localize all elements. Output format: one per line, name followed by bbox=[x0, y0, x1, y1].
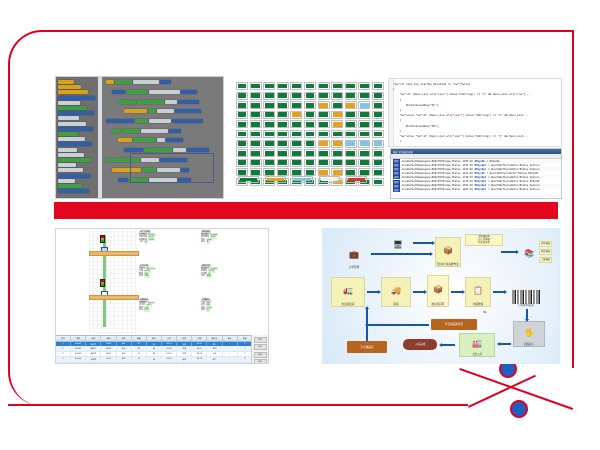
table-cell: 60 bbox=[132, 352, 147, 356]
status-cell-fill bbox=[265, 93, 274, 98]
palette-block[interactable] bbox=[58, 179, 75, 183]
status-grid[interactable] bbox=[236, 82, 384, 186]
tags-top: 到货通知单出入库单据作业任务单 bbox=[465, 234, 503, 246]
canvas-block[interactable] bbox=[124, 109, 201, 113]
status-cell[interactable] bbox=[318, 140, 330, 148]
table-cell: 15x25 bbox=[101, 352, 116, 356]
status-cell[interactable] bbox=[318, 82, 330, 90]
status-cell-fill bbox=[333, 84, 342, 89]
arrow-scan-to-putaway bbox=[499, 343, 511, 345]
status-cell[interactable] bbox=[345, 149, 357, 157]
status-cell[interactable] bbox=[358, 101, 370, 109]
log-status: RCSysOk bbox=[475, 160, 485, 163]
blocks-canvas[interactable] bbox=[102, 77, 223, 198]
status-cell[interactable] bbox=[277, 130, 289, 138]
status-cell-fill bbox=[265, 84, 274, 89]
status-cell[interactable] bbox=[304, 149, 316, 157]
arrow-receive-to-inspect bbox=[451, 291, 463, 293]
node-reject-store: 不合格品库 bbox=[347, 341, 387, 353]
status-cell-fill bbox=[251, 93, 260, 98]
table-header-cell[interactable]: 编号 bbox=[71, 336, 86, 341]
status-cell[interactable] bbox=[263, 92, 275, 100]
sheet-side-button[interactable]: 查询 bbox=[254, 359, 267, 364]
status-cell[interactable] bbox=[290, 159, 302, 167]
table-header-cell[interactable]: 单位 bbox=[147, 336, 162, 341]
status-cell[interactable] bbox=[290, 130, 302, 138]
palette-block[interactable] bbox=[58, 106, 87, 110]
red-divider-band bbox=[54, 202, 558, 219]
palette-block[interactable] bbox=[58, 148, 77, 152]
status-cell[interactable] bbox=[372, 92, 384, 100]
status-cell[interactable] bbox=[290, 92, 302, 100]
status-cell[interactable] bbox=[304, 111, 316, 119]
status-cell[interactable] bbox=[236, 159, 248, 167]
sheet-data-group: 生产计划表计划编号 P-1001开始日期 08-12完成数量 1,250工序 O… bbox=[139, 231, 156, 244]
table-cell: A-1003 bbox=[71, 352, 86, 356]
status-cell[interactable] bbox=[236, 120, 248, 128]
status-cell[interactable] bbox=[277, 149, 289, 157]
status-cell-fill bbox=[265, 103, 274, 108]
status-cell[interactable] bbox=[331, 149, 343, 157]
palette-block[interactable] bbox=[58, 158, 91, 162]
table-header-cell[interactable]: 操作员 bbox=[207, 336, 222, 341]
status-cell[interactable] bbox=[331, 120, 343, 128]
server-icon: 🖥 bbox=[385, 233, 411, 255]
status-cell[interactable] bbox=[358, 120, 370, 128]
status-cell-fill bbox=[278, 160, 287, 165]
status-cell[interactable] bbox=[304, 140, 316, 148]
status-cell[interactable] bbox=[318, 149, 330, 157]
legend-swatch-fill: 保留 bbox=[294, 178, 312, 182]
status-cell[interactable] bbox=[277, 120, 289, 128]
status-cell[interactable] bbox=[372, 120, 384, 128]
status-cell[interactable] bbox=[304, 82, 316, 90]
block-segment bbox=[118, 100, 136, 104]
log-row[interactable]: 线程CoreDefaultNamespace\RCSoftPCFrame_Sta… bbox=[391, 167, 561, 171]
sheet-data-groups: 生产计划表计划编号 P-1001开始日期 08-12完成数量 1,250工序 O… bbox=[139, 229, 268, 333]
status-cell-fill bbox=[346, 141, 355, 146]
canvas-block[interactable] bbox=[112, 90, 197, 94]
canvas-block[interactable] bbox=[124, 148, 209, 152]
block-segment bbox=[106, 80, 114, 84]
status-cell[interactable] bbox=[318, 159, 330, 167]
status-cell[interactable] bbox=[236, 149, 248, 157]
status-cell[interactable] bbox=[372, 111, 384, 119]
block-segment bbox=[172, 119, 203, 123]
table-header-cell[interactable]: 数量 bbox=[132, 336, 147, 341]
status-cell-fill bbox=[238, 103, 247, 108]
block-segment bbox=[124, 148, 143, 152]
status-cell[interactable] bbox=[263, 159, 275, 167]
status-cell-fill bbox=[278, 170, 287, 175]
palette-block[interactable] bbox=[58, 96, 95, 100]
status-cell-fill bbox=[238, 93, 247, 98]
status-cell[interactable] bbox=[263, 111, 275, 119]
palette-block[interactable] bbox=[58, 132, 78, 136]
table-header-cell[interactable]: 仓位 bbox=[162, 336, 177, 341]
decorative-frame-right bbox=[572, 30, 574, 368]
status-cell[interactable] bbox=[345, 159, 357, 167]
log-result: = OpenToRefCycleRefer/Status Failure bbox=[488, 164, 540, 167]
status-cell[interactable] bbox=[290, 140, 302, 148]
status-cell[interactable] bbox=[263, 101, 275, 109]
sheet-side-button[interactable]: 新增 bbox=[254, 337, 267, 343]
status-cell[interactable] bbox=[358, 82, 370, 90]
log-status: RCSysOpt bbox=[475, 184, 486, 187]
table-cell: 4 bbox=[56, 357, 71, 361]
status-cell[interactable] bbox=[236, 82, 248, 90]
log-row[interactable]: 线程CoreDefaultNamespace\RCSoftPCFrame_Sta… bbox=[391, 175, 561, 179]
status-cell-fill bbox=[319, 132, 328, 137]
palette-block[interactable] bbox=[58, 184, 82, 188]
status-cell-fill bbox=[346, 93, 355, 98]
status-cell-fill bbox=[374, 180, 383, 185]
log-code: 2874:08 bbox=[463, 168, 473, 171]
palette-block[interactable] bbox=[58, 80, 74, 84]
status-cell[interactable] bbox=[250, 120, 262, 128]
status-cell[interactable] bbox=[290, 120, 302, 128]
status-cell-fill bbox=[319, 141, 328, 146]
status-cell[interactable] bbox=[345, 82, 357, 90]
group-key: 周转 bbox=[201, 309, 205, 311]
carton-icon: 📦 bbox=[428, 276, 448, 303]
table-cell: 08-13 bbox=[192, 357, 207, 361]
palette-block[interactable] bbox=[58, 163, 76, 167]
table-cell: 32 bbox=[132, 357, 147, 361]
log-row[interactable]: 线程CoreDefaultNamespace\RCSoftPCFrame_Sta… bbox=[391, 163, 561, 167]
status-cell[interactable] bbox=[345, 92, 357, 100]
status-cell-fill bbox=[319, 151, 328, 156]
block-segment bbox=[144, 148, 172, 152]
status-cell[interactable] bbox=[236, 92, 248, 100]
status-cell-fill bbox=[238, 160, 247, 165]
status-cell-fill bbox=[238, 170, 247, 175]
canvas-block[interactable] bbox=[106, 119, 203, 123]
code-editor-panel[interactable]: "kw">if (Get_key_startUp_Disabled == "kw… bbox=[388, 78, 562, 147]
status-cell[interactable] bbox=[372, 178, 384, 186]
arrow-barcode-to-scan bbox=[526, 309, 528, 319]
status-cell[interactable] bbox=[250, 130, 262, 138]
status-cell[interactable] bbox=[318, 92, 330, 100]
log-result: = RCSysOk bbox=[487, 160, 500, 163]
table-header-cell[interactable]: 备注 bbox=[223, 336, 238, 341]
status-cell[interactable] bbox=[318, 101, 330, 109]
table-header-cell[interactable]: 状态 bbox=[177, 336, 192, 341]
canvas-block[interactable] bbox=[118, 100, 199, 104]
status-cell[interactable] bbox=[358, 149, 370, 157]
status-cell[interactable] bbox=[331, 111, 343, 119]
planning-sheet-panel: 生产计划表计划编号 P-1001开始日期 08-12完成数量 1,250工序 O… bbox=[55, 228, 269, 364]
status-cell[interactable] bbox=[345, 130, 357, 138]
barcode-icon bbox=[512, 290, 540, 304]
workflow-tag: 库存报表 bbox=[539, 241, 552, 247]
status-cell-fill bbox=[278, 151, 287, 156]
log-path: CoreDefaultNamespace\RCSoftPCFrame_Statu… bbox=[402, 176, 461, 179]
status-cell-fill bbox=[251, 151, 260, 156]
status-cell[interactable] bbox=[277, 82, 289, 90]
status-cell[interactable] bbox=[236, 111, 248, 119]
status-cell-fill bbox=[306, 84, 315, 89]
log-row-list[interactable]: 线程CoreDefaultNamespace\RCSoftPCFrame_Sta… bbox=[391, 159, 561, 192]
status-cell-fill bbox=[333, 103, 342, 108]
status-cell[interactable] bbox=[263, 120, 275, 128]
status-cell[interactable] bbox=[304, 92, 316, 100]
status-cell[interactable] bbox=[290, 149, 302, 157]
log-code: 2761:19 bbox=[463, 164, 473, 167]
log-status: RCSysOpt bbox=[475, 176, 486, 179]
canvas-block[interactable] bbox=[106, 80, 171, 84]
status-cell[interactable] bbox=[372, 140, 384, 148]
status-cell[interactable] bbox=[372, 159, 384, 167]
palette-block[interactable] bbox=[58, 142, 92, 146]
log-status: RCSysOpt bbox=[475, 168, 486, 171]
status-cell[interactable] bbox=[250, 92, 262, 100]
status-cell[interactable] bbox=[304, 120, 316, 128]
status-cell-fill bbox=[374, 122, 383, 127]
status-cell-fill bbox=[319, 170, 328, 175]
status-cell-fill bbox=[278, 103, 287, 108]
status-cell[interactable] bbox=[372, 149, 384, 157]
table-cell: 48 bbox=[132, 346, 147, 350]
log-result: = OpenToRefCycleRefer/Status Failure bbox=[488, 176, 540, 179]
status-cell[interactable] bbox=[290, 101, 302, 109]
status-cell[interactable] bbox=[345, 101, 357, 109]
block-segment bbox=[112, 90, 125, 94]
log-row[interactable]: 线程CoreDefaultNamespace\RCSoftPCFrame_Sta… bbox=[391, 171, 561, 175]
status-cell-fill bbox=[238, 122, 247, 127]
log-path: CoreDefaultNamespace\RCSoftPCFrame_Statu… bbox=[402, 180, 461, 183]
palette-block[interactable] bbox=[58, 168, 83, 172]
slide-canvas: 可用使用中保留空闲故障 "kw">if (Get_key_startUp_Dis… bbox=[0, 0, 600, 450]
status-cell[interactable] bbox=[372, 101, 384, 109]
table-cell: 08-12 bbox=[192, 346, 207, 350]
status-cell[interactable] bbox=[331, 82, 343, 90]
log-path: CoreDefaultNamespace\RCSoftPCFrame_Statu… bbox=[402, 172, 461, 175]
status-cell[interactable] bbox=[358, 111, 370, 119]
status-cell[interactable] bbox=[372, 130, 384, 138]
workflow-diagram-panel: 💼 订单管理 🖥 📦 警示/记录系统作业 到货通知单出入库单据作业任务单 📚 库… bbox=[322, 228, 560, 364]
forklift-icon: 🚚 bbox=[382, 278, 410, 303]
status-cell[interactable] bbox=[250, 101, 262, 109]
block-segment bbox=[122, 129, 140, 133]
sheet-data-group: 设备状态设备编号 EQ-15运行率 94%停机 0.5h状态 运行 bbox=[139, 299, 155, 312]
palette-block[interactable] bbox=[58, 101, 80, 105]
status-cell-fill bbox=[306, 103, 315, 108]
canvas-block[interactable] bbox=[118, 138, 183, 142]
status-cell[interactable] bbox=[250, 159, 262, 167]
status-cell[interactable] bbox=[358, 92, 370, 100]
table-cell: 赵六 bbox=[207, 357, 222, 361]
table-header-cell[interactable]: 日期 bbox=[192, 336, 207, 341]
status-cell[interactable] bbox=[345, 120, 357, 128]
sheet-side-buttons[interactable]: 新增修改删除查询导出刷新关闭 bbox=[251, 335, 268, 363]
gantt-signal-a bbox=[100, 235, 105, 243]
status-cell-fill bbox=[346, 160, 355, 165]
status-cell[interactable] bbox=[277, 101, 289, 109]
legend-swatch-fill: 可用 bbox=[240, 178, 258, 182]
blocks-palette[interactable] bbox=[56, 77, 98, 198]
table-cell: B02 bbox=[117, 346, 132, 350]
palette-block[interactable] bbox=[58, 137, 85, 141]
status-cell-fill bbox=[278, 112, 287, 117]
status-cell-fill bbox=[360, 170, 369, 175]
status-cell-fill bbox=[333, 160, 342, 165]
status-cell-fill bbox=[360, 141, 369, 146]
status-cell[interactable] bbox=[331, 92, 343, 100]
table-cell: B03 bbox=[117, 352, 132, 356]
block-segment bbox=[112, 129, 121, 133]
status-cell[interactable] bbox=[263, 82, 275, 90]
status-cell[interactable] bbox=[263, 130, 275, 138]
status-cell[interactable] bbox=[263, 149, 275, 157]
block-segment bbox=[166, 138, 183, 142]
status-cell[interactable] bbox=[250, 149, 262, 157]
legend-swatch-fill: 故障 bbox=[348, 178, 366, 182]
status-cell-fill bbox=[374, 160, 383, 165]
block-segment bbox=[169, 129, 181, 133]
node-inspect: 📋 到货检验 bbox=[465, 277, 491, 307]
canvas-block[interactable] bbox=[112, 129, 181, 133]
legend-swatch: 保留 bbox=[292, 176, 313, 183]
log-row[interactable]: 线程CoreDefaultNamespace\RCSoftPCFrame_Sta… bbox=[391, 179, 561, 183]
status-cell[interactable] bbox=[277, 159, 289, 167]
status-cell-fill bbox=[251, 141, 260, 146]
gantt-bar-1[interactable] bbox=[89, 251, 139, 256]
palette-block[interactable] bbox=[58, 90, 88, 94]
log-console-title: 输出 显示输出来源 bbox=[393, 150, 413, 154]
sheet-gantt-area[interactable] bbox=[89, 229, 137, 333]
sheet-side-button[interactable]: 修改 bbox=[254, 344, 267, 350]
status-cell-fill bbox=[265, 132, 274, 137]
table-cell: 箱 bbox=[147, 357, 162, 361]
status-cell[interactable] bbox=[236, 130, 248, 138]
gantt-bar-2[interactable] bbox=[89, 295, 139, 300]
status-cell-fill bbox=[360, 160, 369, 165]
status-cell[interactable] bbox=[236, 140, 248, 148]
status-cell-fill bbox=[251, 103, 260, 108]
palette-block[interactable] bbox=[58, 127, 93, 131]
status-cell[interactable] bbox=[290, 82, 302, 90]
palette-block[interactable] bbox=[58, 122, 86, 126]
status-cell[interactable] bbox=[304, 130, 316, 138]
status-cell[interactable] bbox=[358, 140, 370, 148]
status-cell-fill bbox=[238, 112, 247, 117]
status-cell[interactable] bbox=[250, 111, 262, 119]
table-cell: 王五 bbox=[207, 352, 222, 356]
palette-block[interactable] bbox=[58, 153, 84, 157]
status-cell[interactable] bbox=[304, 159, 316, 167]
clipboard-icon: 📋 bbox=[466, 278, 490, 303]
palette-block[interactable] bbox=[58, 111, 94, 115]
palette-block[interactable] bbox=[58, 85, 81, 89]
table-cell: R1-03 bbox=[162, 352, 177, 356]
node-host-terminal: 🖥 bbox=[385, 233, 411, 255]
block-segment bbox=[160, 80, 171, 84]
log-result: = OpenToRefCycleRefer/Status Failure bbox=[488, 168, 540, 171]
status-cell-fill bbox=[251, 170, 260, 175]
table-header-row[interactable]: 序号编号名称规格批次数量单位仓位状态日期操作员备注更新类型 bbox=[56, 335, 268, 342]
table-cell: B04 bbox=[117, 357, 132, 361]
status-cell[interactable] bbox=[331, 130, 343, 138]
status-cell[interactable] bbox=[331, 101, 343, 109]
status-cell[interactable] bbox=[331, 159, 343, 167]
status-cell[interactable] bbox=[318, 120, 330, 128]
node-scan-in: 🖐 扫描录入 bbox=[513, 321, 545, 347]
block-segment bbox=[126, 90, 148, 94]
table-body[interactable]: 1A-1001原料甲20x30B0150箱R1-01正常08-12张三-Y标准2… bbox=[56, 342, 268, 363]
status-cell-fill bbox=[319, 93, 328, 98]
node-report: 📚 bbox=[519, 241, 539, 265]
sheet-side-button[interactable]: 删除 bbox=[254, 352, 267, 358]
log-code: 2088:19 bbox=[463, 188, 473, 191]
status-cell-fill bbox=[346, 112, 355, 117]
status-cell[interactable] bbox=[358, 130, 370, 138]
status-cell[interactable] bbox=[318, 111, 330, 119]
node-unload-label: 卸货 bbox=[393, 303, 398, 306]
palette-block[interactable] bbox=[58, 189, 89, 193]
status-cell[interactable] bbox=[277, 111, 289, 119]
table-header-cell[interactable]: 批次 bbox=[117, 336, 132, 341]
status-cell-fill bbox=[292, 84, 301, 89]
status-cell[interactable] bbox=[331, 140, 343, 148]
table-header-cell[interactable]: 序号 bbox=[56, 336, 71, 341]
palette-block[interactable] bbox=[58, 116, 79, 120]
status-cell-fill bbox=[278, 93, 287, 98]
status-cell[interactable] bbox=[290, 111, 302, 119]
status-cell[interactable] bbox=[372, 82, 384, 90]
log-row[interactable]: 线程CoreDefaultNamespace\RCSoftPCFrame_Sta… bbox=[391, 188, 561, 192]
block-segment bbox=[148, 109, 156, 113]
code-text: "kw">if (Get_key_startUp_Disabled == "kw… bbox=[393, 82, 559, 144]
status-cell-fill bbox=[319, 84, 328, 89]
group-key: 状态 bbox=[139, 275, 143, 277]
status-cell-fill bbox=[306, 93, 315, 98]
status-cell[interactable] bbox=[250, 140, 262, 148]
log-path: CoreDefaultNamespace\RCSoftPCFrame_Statu… bbox=[402, 184, 461, 187]
status-cell-fill bbox=[360, 84, 369, 89]
sheet-table[interactable]: 序号编号名称规格批次数量单位仓位状态日期操作员备注更新类型 1A-1001原料甲… bbox=[56, 335, 268, 363]
palette-block[interactable] bbox=[58, 174, 90, 178]
decorative-frame-bottom bbox=[8, 404, 468, 406]
sheet-data-group: 仓储统计入库 420出库 385结存 1,120周转 3.2 bbox=[201, 299, 213, 312]
status-cell[interactable] bbox=[318, 130, 330, 138]
table-cell: 原料乙 bbox=[86, 346, 101, 350]
block-segment bbox=[118, 138, 132, 142]
log-row[interactable]: 线程CoreDefaultNamespace\RCSoftPCFrame_Sta… bbox=[391, 184, 561, 188]
group-value: OK bbox=[144, 241, 149, 244]
block-segment bbox=[149, 90, 180, 94]
status-cell[interactable] bbox=[372, 168, 384, 176]
status-cell[interactable] bbox=[277, 140, 289, 148]
status-cell[interactable] bbox=[304, 101, 316, 109]
status-cell[interactable] bbox=[358, 159, 370, 167]
table-header-cell[interactable]: 名称 bbox=[86, 336, 101, 341]
table-cell: 半成品 bbox=[86, 357, 101, 361]
table-cell: 08-13 bbox=[192, 352, 207, 356]
table-header-cell[interactable]: 规格 bbox=[101, 336, 116, 341]
status-cell-fill bbox=[251, 122, 260, 127]
block-segment bbox=[157, 138, 165, 142]
status-cell[interactable] bbox=[250, 82, 262, 90]
status-cell[interactable] bbox=[345, 140, 357, 148]
status-cell[interactable] bbox=[263, 140, 275, 148]
status-cell[interactable] bbox=[345, 111, 357, 119]
status-cell-fill bbox=[292, 122, 301, 127]
block-segment bbox=[187, 148, 209, 152]
status-cell[interactable] bbox=[277, 92, 289, 100]
status-cell[interactable] bbox=[236, 101, 248, 109]
status-cell-fill bbox=[238, 151, 247, 156]
